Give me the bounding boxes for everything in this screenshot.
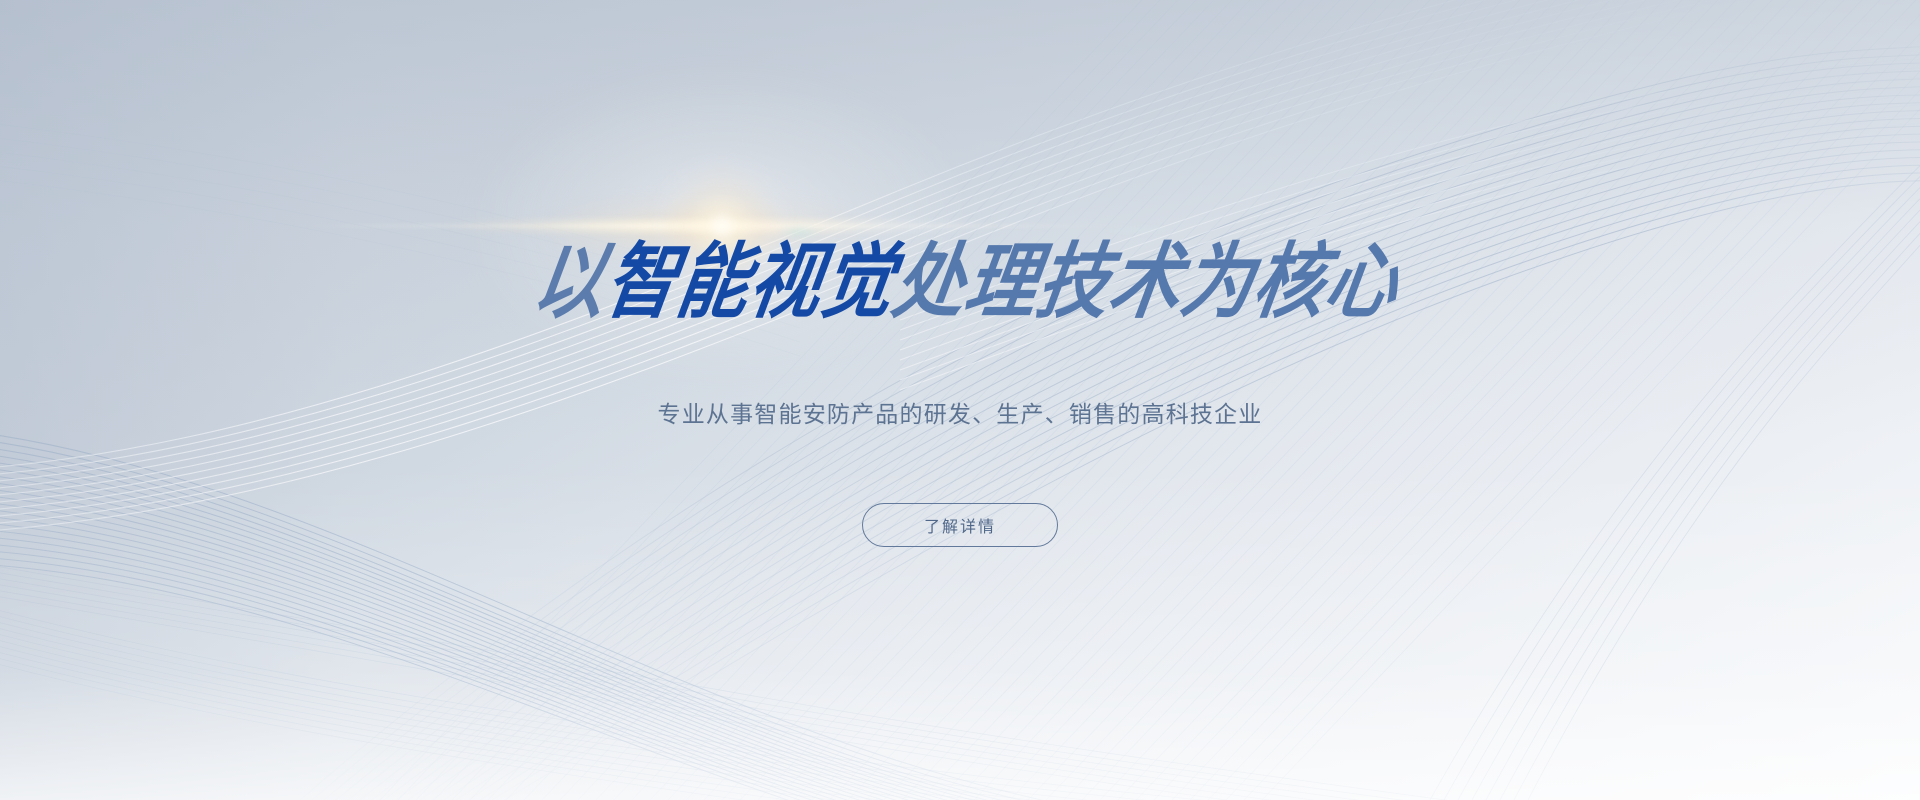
hero-headline: 以智能视觉处理技术为核心 [528,252,1392,323]
headline-segment-3: 处理技术为核心 [888,241,1405,323]
headline-segment-1: 以 [528,241,613,323]
hero-content: 以智能视觉处理技术为核心 专业从事智能安防产品的研发、生产、销售的高科技企业 了… [0,0,1920,800]
headline-segment-highlight: 智能视觉 [600,241,901,323]
learn-more-button[interactable]: 了解详情 [862,503,1058,547]
hero-subtitle: 专业从事智能安防产品的研发、生产、销售的高科技企业 [658,404,1263,427]
hero-banner: 以智能视觉处理技术为核心 专业从事智能安防产品的研发、生产、销售的高科技企业 了… [0,0,1920,800]
